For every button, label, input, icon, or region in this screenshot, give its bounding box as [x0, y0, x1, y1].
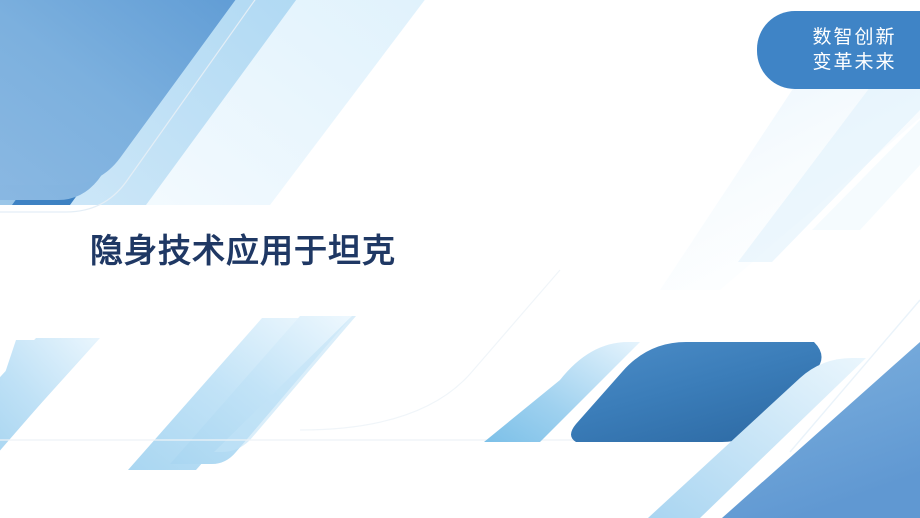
corner-badge: 数智创新 变革未来 [757, 11, 920, 89]
bottom-left-chevron [0, 338, 100, 462]
curve-hairline [300, 270, 560, 430]
badge-line-1: 数智创新 [812, 25, 896, 50]
title-slide: 数智创新 变革未来 隐身技术应用于坦克 [0, 0, 920, 518]
badge-line-2: 变革未来 [812, 50, 896, 75]
bottom-left-diagonal-blade [128, 316, 356, 470]
page-title: 隐身技术应用于坦克 [90, 232, 396, 270]
